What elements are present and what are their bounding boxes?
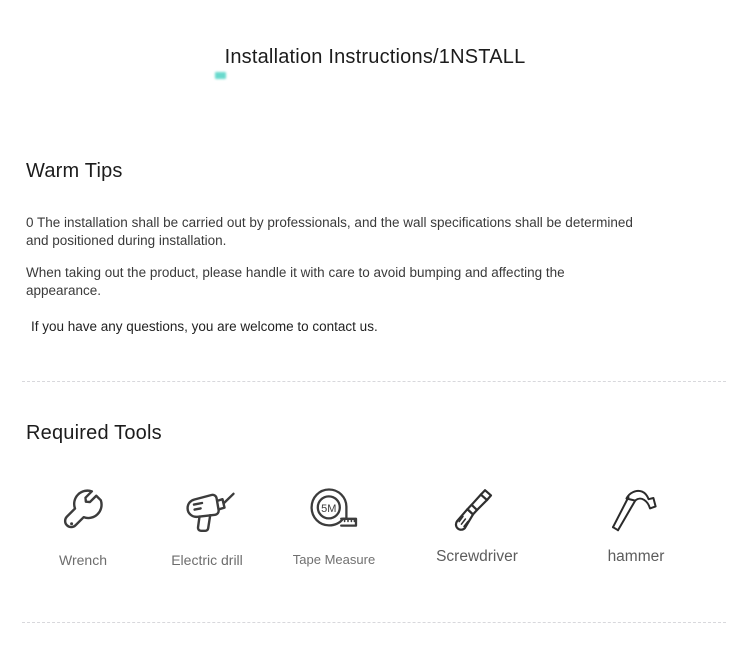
tape-measure-icon: 5M bbox=[301, 480, 367, 542]
tool-item-hammer: hammer bbox=[556, 480, 716, 567]
contact-note: If you have any questions, you are welco… bbox=[31, 318, 378, 336]
required-tools-list: Wrench Electric drill bbox=[22, 480, 728, 570]
page-title: Installation Instructions/1NSTALL bbox=[0, 44, 750, 70]
warm-tips-heading: Warm Tips bbox=[26, 160, 123, 183]
tool-label-hammer: hammer bbox=[608, 547, 665, 567]
warm-tip-paragraph-2: When taking out the product, please hand… bbox=[26, 264, 586, 300]
wrench-icon bbox=[51, 480, 117, 542]
tool-label-electric-drill: Electric drill bbox=[171, 550, 243, 570]
screwdriver-icon bbox=[441, 480, 507, 542]
installation-instructions-page: Installation Instructions/1NSTALL Warm T… bbox=[0, 0, 750, 671]
hammer-icon bbox=[601, 480, 667, 542]
tool-label-tape-measure: Tape Measure bbox=[293, 550, 375, 570]
tape-measure-badge-text: 5M bbox=[321, 503, 336, 515]
tool-label-wrench: Wrench bbox=[59, 550, 107, 570]
tool-label-screwdriver: Screwdriver bbox=[436, 547, 518, 567]
required-tools-heading: Required Tools bbox=[26, 422, 162, 445]
tool-item-tape-measure: 5M Tape Measure bbox=[270, 480, 398, 570]
tool-item-electric-drill: Electric drill bbox=[144, 480, 270, 570]
tool-item-screwdriver: Screwdriver bbox=[398, 480, 556, 567]
warm-tip-paragraph-1: 0 The installation shall be carried out … bbox=[26, 214, 651, 250]
teal-artifact-mark bbox=[215, 72, 226, 79]
divider-top bbox=[22, 381, 726, 382]
divider-bottom bbox=[22, 622, 726, 623]
tool-item-wrench: Wrench bbox=[22, 480, 144, 570]
warm-tips-body: 0 The installation shall be carried out … bbox=[26, 214, 686, 300]
drill-icon bbox=[176, 480, 242, 542]
